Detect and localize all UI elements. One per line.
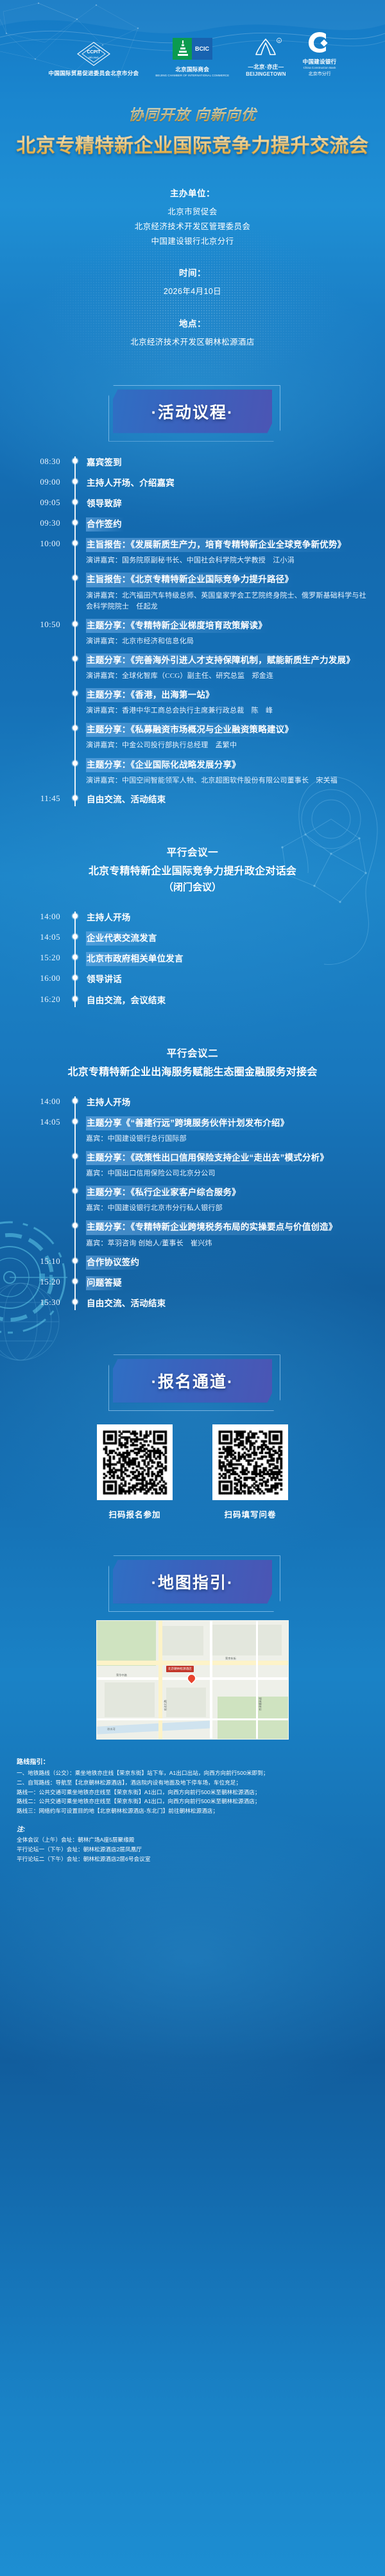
- agenda-row-title: 主题分享：《专精特新企业跨境税务布局的实操要点与价值创造》: [86, 1220, 339, 1234]
- timeline-dot-cell: [64, 723, 86, 730]
- agenda-row-body: 主题分享：《完善海外引进人才支持保障机制，赋能新质生产力发展》演讲嘉宾：全球化智…: [86, 653, 373, 682]
- timeline-dot-icon: [73, 1119, 78, 1124]
- map-road: [210, 1621, 212, 1740]
- agenda-row-body: 主题分享：《私募融资市场概况与企业融资策略建议》演讲嘉宾：中金公司投行部执行总经…: [86, 723, 373, 751]
- map-label-2: 宏达北路: [164, 1700, 167, 1711]
- logo-ccb-sub: 北京市分行: [309, 71, 331, 77]
- timeline-dot-icon: [73, 540, 78, 546]
- session-one-line3: （闭门会议）: [0, 880, 385, 894]
- timeline-dot-icon: [73, 499, 78, 505]
- map-park-area: [97, 1621, 156, 1666]
- agenda-row: 14:05主题分享《“善建行远”跨境服务伙伴计划发布介绍》嘉宾：中国建设银行总行…: [0, 1113, 373, 1148]
- timeline-dot-icon: [73, 520, 78, 525]
- agenda-row-body: 自由交流，会议结束: [86, 994, 373, 1008]
- registration-banner: ·报名通道·: [113, 1359, 272, 1403]
- agenda-row-body: 主持人开场、介绍嘉宾: [86, 476, 373, 490]
- agenda-row-time: 09:30: [0, 517, 64, 530]
- timeline-dot-cell: [64, 972, 86, 980]
- timeline-dot-icon: [73, 1258, 78, 1263]
- svg-text:CCPIT: CCPIT: [87, 50, 101, 55]
- agenda-row: 15:20问题答疑: [0, 1273, 373, 1293]
- agenda-row-body: 领导讲话: [86, 972, 373, 987]
- map-label-3: 京津塘高速: [259, 1697, 262, 1711]
- registration-banner-text: ·报名通道·: [151, 1369, 234, 1392]
- timeline-dot-cell: [64, 793, 86, 800]
- agenda-row-body: 主题分享：《专精特新企业跨境税务布局的实操要点与价值创造》嘉宾：萃羽咨询 创始人…: [86, 1220, 373, 1249]
- timeline-dot-cell: [64, 456, 86, 463]
- qr-caption-survey: 扫码填写问卷: [212, 1508, 288, 1520]
- agenda-row: —主题分享：《私募融资市场概况与企业融资策略建议》演讲嘉宾：中金公司投行部执行总…: [0, 720, 373, 754]
- agenda-row-speaker: 嘉宾：中国建设银行北京市分行私人银行部: [86, 1203, 370, 1214]
- timeline-dot-cell: [64, 931, 86, 939]
- timeline-dot-icon: [73, 1299, 78, 1304]
- timeline-dot-cell: [64, 573, 86, 580]
- map-pin-icon: [187, 1673, 197, 1684]
- agenda-row: —主题分享：《企业国际化战略发展分享》演讲嘉宾：中国空间智能领军人物、北京超图软…: [0, 755, 373, 790]
- timeline-dot-icon: [73, 656, 78, 661]
- timeline-dot-icon: [73, 913, 78, 919]
- agenda-row-title: 主题分享《“善建行远”跨境服务伙伴计划发布介绍》: [86, 1116, 291, 1130]
- agenda-row-body: 主旨报告：《北京专精特新企业国际竞争力提升路径》演讲嘉宾：北汽福田汽车特级总师、…: [86, 573, 373, 612]
- timeline-dot-icon: [73, 975, 78, 980]
- agenda-row: 16:20自由交流，会议结束: [0, 990, 373, 1011]
- agenda-row-body: 主题分享：《香港，出海第一站》演讲嘉宾：香港中华工商总会执行主席兼行政总裁 陈 …: [86, 688, 373, 716]
- timeline-dot-cell: [64, 619, 86, 627]
- logo-ccpit-beijing: CCPIT BEIJING 中国国际贸易促进委员会北京市分会: [49, 40, 139, 77]
- agenda-row-title: 主题分享：《私募融资市场概况与企业融资策略建议》: [86, 723, 295, 737]
- agenda-row-body: 领导致辞: [86, 497, 373, 511]
- agenda-row: —主旨报告：《北京专精特新企业国际竞争力提升路径》演讲嘉宾：北汽福田汽车特级总师…: [0, 569, 373, 615]
- timeline-dot-cell: [64, 653, 86, 661]
- qr-caption-signup: 扫码报名参加: [97, 1508, 173, 1520]
- timeline-dot-cell: [64, 1096, 86, 1103]
- agenda-row: —主题分享：《完善海外引进人才支持保障机制，赋能新质生产力发展》演讲嘉宾：全球化…: [0, 650, 373, 685]
- map-road: [97, 1718, 289, 1720]
- agenda-row-time: 14:05: [0, 1116, 64, 1128]
- timeline-dot-icon: [73, 1279, 78, 1284]
- poster-root: CCPIT BEIJING 中国国际贸易促进委员会北京市分会: [0, 0, 385, 2576]
- timeline-dot-icon: [73, 1154, 78, 1159]
- hero-main-title: 北京专精特新企业国际竞争力提升交流会: [0, 130, 385, 158]
- agenda-row-time: 09:00: [0, 476, 64, 488]
- agenda-row: 10:00主旨报告：《发展新质生产力，培育专精特新企业全球竞争新优势》演讲嘉宾：…: [0, 535, 373, 569]
- agenda-row-time: 16:00: [0, 972, 64, 985]
- agenda-row-title: 领导讲话: [86, 972, 124, 987]
- session-one-heading: 平行会议一 北京专精特新企业国际竞争力提升政企对话会 （闭门会议）: [0, 845, 385, 894]
- agenda-row: —主题分享：《私行企业家客户综合服务》嘉宾：中国建设银行北京市分行私人银行部: [0, 1182, 373, 1217]
- agenda-row-time: 15:20: [0, 1276, 64, 1288]
- logo-ccb-label: 中国建设银行: [303, 58, 337, 65]
- agenda-row-time: 15:10: [0, 1256, 64, 1268]
- agenda-row-time: 15:30: [0, 1297, 64, 1309]
- agenda-row-time: 16:20: [0, 994, 64, 1006]
- timeline-dot-icon: [73, 458, 78, 463]
- logo-ccb-en: China Construction Bank: [304, 66, 336, 69]
- agenda-row-body: 主题分享：《政策性出口信用保险支持企业“走出去”模式分析》嘉宾：中国出口信用保险…: [86, 1151, 373, 1179]
- agenda-row-title: 主持人开场: [86, 911, 133, 925]
- session-one-line1: 平行会议一: [0, 845, 385, 859]
- time-value: 2026年4月10日: [0, 284, 385, 299]
- timeline-dot-cell: [64, 517, 86, 525]
- host-3: 中国建设银行北京分行: [0, 234, 385, 249]
- logo-ccb: 中国建设银行 China Construction Bank 北京市分行: [303, 29, 337, 77]
- agenda-row-title: 北京市政府相关单位发言: [86, 952, 185, 966]
- agenda-row-time: 14:00: [0, 1096, 64, 1108]
- qr-code-signup[interactable]: [97, 1424, 173, 1500]
- map-road-main: [97, 1661, 289, 1665]
- map-label-4: 凉水河: [107, 1727, 116, 1731]
- timeline-dot-icon: [73, 1223, 78, 1228]
- route-line-0: 一、地铁路线（公交）：乘坐地铁亦庄线【荣京东街】站下车，A1出口出站，向西方向前…: [17, 1768, 368, 1778]
- agenda-row-title: 主题分享：《香港，出海第一站》: [86, 688, 216, 702]
- agenda-row-speaker: 演讲嘉宾：北京市经济和信息化局: [86, 636, 370, 647]
- agenda-row-title: 主题分享：《私行企业家客户综合服务》: [86, 1186, 243, 1200]
- qr-item-survey[interactable]: 扫码填写问卷: [212, 1424, 288, 1520]
- logo-bcic-en: BEIJING CHAMBER OF INTERNATIONAL COMMERC…: [155, 74, 229, 77]
- place-label: 地点：: [0, 316, 385, 329]
- host-1: 北京市贸促会: [0, 205, 385, 220]
- registration-banner-wrap: ·报名通道·: [0, 1359, 385, 1403]
- time-block: 时间： 2026年4月10日: [0, 266, 385, 299]
- map-block: [105, 1682, 155, 1717]
- agenda-row-title: 自由交流、活动结束: [86, 793, 167, 807]
- session-two-heading: 平行会议二 北京专精特新企业出海服务赋能生态圈金融服务对接会: [0, 1046, 385, 1078]
- logo-beijing-etown: R —北京·亦庄— BEIJINGETOWN: [246, 34, 286, 77]
- agenda-row-title: 主题分享：《政策性出口信用保险支持企业“走出去”模式分析》: [86, 1151, 330, 1165]
- qr-code-survey[interactable]: [212, 1424, 288, 1500]
- footer-notes: 路线指引： 一、地铁路线（公交）：乘坐地铁亦庄线【荣京东街】站下车，A1出口出站…: [0, 1740, 385, 1863]
- session-two-line1: 平行会议二: [0, 1046, 385, 1060]
- map-road-vertical: [158, 1621, 162, 1740]
- agenda-row-title: 主题分享：《专精特新企业梯度培育政策解读》: [86, 619, 269, 633]
- agenda-row: 09:30合作签约: [0, 514, 373, 535]
- timeline-dot-cell: [64, 538, 86, 546]
- agenda-row-title: 主持人开场: [86, 1096, 133, 1110]
- map-banner-wrap: ·地图指引·: [0, 1560, 385, 1604]
- svg-text:BCIC: BCIC: [195, 46, 209, 52]
- agenda-row-speaker: 演讲嘉宾：国务院原副秘书长、中国社会科学院大学教授 江小涓: [86, 555, 370, 566]
- logo-bcic: BCIC 北京国际商会 BEIJING CHAMBER OF INTERNATI…: [155, 37, 229, 77]
- timeline-dot-icon: [73, 996, 78, 1001]
- agenda-row-time: 14:00: [0, 911, 64, 923]
- route-title: 路线指引：: [17, 1756, 368, 1766]
- session-one-timeline: 14:00主持人开场14:05企业代表交流发言15:20北京市政府相关单位发言1…: [0, 908, 373, 1011]
- agenda-row: 14:00主持人开场: [0, 908, 373, 928]
- agenda-banner-text: ·活动议程·: [151, 400, 234, 423]
- ccb-icon: [305, 29, 334, 56]
- note-line-2: 平行论坛二（下午）会址：朝林松源酒店2层6号会议室: [17, 1854, 368, 1864]
- agenda-row: 14:05企业代表交流发言: [0, 928, 373, 949]
- agenda-row-time: 10:50: [0, 619, 64, 631]
- route-line-3: 路线二：公共交通可乘坐地铁亦庄线至【荣京东街】A1出口，向西方向前行500米至朝…: [17, 1797, 368, 1806]
- agenda-banner: ·活动议程·: [113, 390, 272, 433]
- host-label: 主办单位：: [0, 186, 385, 199]
- session-two-timeline: 14:00主持人开场14:05主题分享《“善建行远”跨境服务伙伴计划发布介绍》嘉…: [0, 1093, 373, 1314]
- agenda-row: 10:50主题分享：《专精特新企业梯度培育政策解读》演讲嘉宾：北京市经济和信息化…: [0, 616, 373, 650]
- ccpit-icon: CCPIT BEIJING: [75, 40, 112, 67]
- agenda-row-body: 主旨报告：《发展新质生产力，培育专精特新企业全球竞争新优势》演讲嘉宾：国务院原副…: [86, 538, 373, 566]
- agenda-row-title: 企业代表交流发言: [86, 931, 159, 946]
- timeline-dot-icon: [73, 955, 78, 960]
- agenda-row-speaker: 演讲嘉宾：中国空间智能领军人物、北京超图软件股份有限公司董事长 宋关福: [86, 775, 370, 786]
- agenda-row: 15:20北京市政府相关单位发言: [0, 949, 373, 969]
- map-block: [211, 1625, 282, 1655]
- qr-code-row: 扫码报名参加 扫码填写问卷: [0, 1424, 385, 1520]
- timeline-dot-cell: [64, 994, 86, 1001]
- agenda-row-title: 自由交流、活动结束: [86, 1297, 167, 1311]
- agenda-row-title: 自由交流，会议结束: [86, 994, 167, 1008]
- event-info-block: 主办单位： 北京市贸促会 北京经济技术开发区管理委员会 中国建设银行北京分行 时…: [0, 186, 385, 350]
- agenda-row: 15:10合作协议签约: [0, 1252, 373, 1273]
- agenda-row-body: 自由交流、活动结束: [86, 1297, 373, 1311]
- agenda-banner-wrap: ·活动议程·: [0, 390, 385, 433]
- route-line-1: 二、自驾路线：导航至【北京朝林松源酒店】，酒店院内设有地面及地下停车场，车位充足…: [17, 1778, 368, 1788]
- logo-ccpit-label: 中国国际贸易促进委员会北京市分会: [49, 69, 139, 77]
- agenda-row-speaker: 演讲嘉宾：香港中华工商总会执行主席兼行政总裁 陈 峰: [86, 705, 370, 716]
- timeline-dot-cell: [64, 497, 86, 505]
- timeline-dot-icon: [73, 761, 78, 766]
- map-label-0: 荣京东街: [225, 1657, 236, 1661]
- note-line-1: 平行论坛一（下午）会址：朝林松源酒店2层凤凰厅: [17, 1845, 368, 1854]
- timeline-dot-icon: [73, 691, 78, 696]
- agenda-row-body: 主题分享：《企业国际化战略发展分享》演讲嘉宾：中国空间智能领军人物、北京超图软件…: [86, 758, 373, 786]
- agenda-row-body: 主持人开场: [86, 1096, 373, 1110]
- agenda-row: 09:05领导致辞: [0, 494, 373, 514]
- agenda-row: —主题分享：《香港，出海第一站》演讲嘉宾：香港中华工商总会执行主席兼行政总裁 陈…: [0, 685, 373, 720]
- timeline-dot-cell: [64, 911, 86, 919]
- map-wrap: 荣京东街 荣华中路 宏达北路 京津塘高速 凉水河 北京朝林松源酒店: [0, 1620, 385, 1740]
- route-line-2: 路线一：公共交通可乘坐地铁亦庄线至【荣京东街】A1出口，向西方向前行500米至朝…: [17, 1788, 368, 1797]
- timeline-dot-cell: [64, 688, 86, 696]
- timeline-dot-cell: [64, 1256, 86, 1263]
- timeline-dot-icon: [73, 479, 78, 484]
- note-line-0: 全体会议（上午）会址：朝林广场A座5层聚缘殿: [17, 1835, 368, 1845]
- session-two-section: 14:00主持人开场14:05主题分享《“善建行远”跨境服务伙伴计划发布介绍》嘉…: [0, 1093, 385, 1314]
- agenda-section: 08:30嘉宾签到09:00主持人开场、介绍嘉宾09:05领导致辞09:30合作…: [0, 453, 385, 810]
- map-banner: ·地图指引·: [113, 1560, 272, 1604]
- timeline-dot-icon: [73, 1098, 78, 1103]
- agenda-row-time: 09:05: [0, 497, 64, 509]
- place-value: 北京经济技术开发区朝林松源酒店: [0, 335, 385, 350]
- agenda-row-body: 主持人开场: [86, 911, 373, 925]
- agenda-timeline: 08:30嘉宾签到09:00主持人开场、介绍嘉宾09:05领导致辞09:30合作…: [0, 453, 373, 810]
- timeline-dot-cell: [64, 1276, 86, 1284]
- session-two-line2: 北京专精特新企业出海服务赋能生态圈金融服务对接会: [0, 1063, 385, 1078]
- agenda-row-time: 15:20: [0, 952, 64, 964]
- venue-map[interactable]: 荣京东街 荣华中路 宏达北路 京津塘高速 凉水河 北京朝林松源酒店: [96, 1620, 289, 1740]
- hero-subtitle: 协同开放 向新向优: [0, 103, 385, 125]
- host-2: 北京经济技术开发区管理委员会: [0, 220, 385, 234]
- place-block: 地点： 北京经济技术开发区朝林松源酒店: [0, 316, 385, 350]
- agenda-row-title: 合作协议签约: [86, 1256, 141, 1270]
- agenda-row-title: 合作签约: [86, 517, 124, 532]
- timeline-dot-cell: [64, 1186, 86, 1193]
- agenda-row-speaker: 演讲嘉宾：北汽福田汽车特级总师、英国皇家学会工艺院终身院士、俄罗斯基础科学与社会…: [86, 591, 370, 612]
- sponsor-logo-row: CCPIT BEIJING 中国国际贸易促进委员会北京市分会: [0, 0, 385, 77]
- timeline-dot-cell: [64, 1220, 86, 1228]
- agenda-row-time: 11:45: [0, 793, 64, 805]
- agenda-row: 15:30自由交流、活动结束: [0, 1293, 373, 1314]
- host-block: 主办单位： 北京市贸促会 北京经济技术开发区管理委员会 中国建设银行北京分行: [0, 186, 385, 249]
- timeline-dot-cell: [64, 1116, 86, 1124]
- timeline-dot-icon: [73, 934, 78, 939]
- svg-text:BEIJING: BEIJING: [89, 56, 99, 59]
- agenda-row-body: 自由交流、活动结束: [86, 793, 373, 807]
- agenda-row-title: 主题分享：《企业国际化战略发展分享》: [86, 758, 243, 772]
- hero-title-block: 协同开放 向新向优 北京专精特新企业国际竞争力提升交流会: [0, 103, 385, 158]
- timeline-dot-icon: [73, 795, 78, 800]
- agenda-row-body: 主题分享《“善建行远”跨境服务伙伴计划发布介绍》嘉宾：中国建设银行总行国际部: [86, 1116, 373, 1145]
- agenda-row-title: 主题分享：《完善海外引进人才支持保障机制，赋能新质生产力发展》: [86, 653, 357, 668]
- timeline-dot-cell: [64, 758, 86, 766]
- agenda-row-speaker: 嘉宾：萃羽咨询 创始人/董事长 崔兴炜: [86, 1238, 370, 1249]
- agenda-row-body: 企业代表交流发言: [86, 931, 373, 946]
- agenda-row-time: 14:05: [0, 931, 64, 944]
- timeline-dot-cell: [64, 1151, 86, 1159]
- agenda-row-time: 08:30: [0, 456, 64, 468]
- logo-bcic-label: 北京国际商会: [175, 65, 209, 73]
- agenda-row-title: 问题答疑: [86, 1276, 124, 1290]
- timeline-dot-icon: [73, 621, 78, 627]
- timeline-dot-icon: [73, 575, 78, 580]
- agenda-row: 11:45自由交流、活动结束: [0, 790, 373, 810]
- map-banner-text: ·地图指引·: [151, 1570, 234, 1593]
- agenda-row-body: 主题分享：《私行企业家客户综合服务》嘉宾：中国建设银行北京市分行私人银行部: [86, 1186, 373, 1214]
- map-block: [166, 1688, 206, 1717]
- agenda-row: 14:00主持人开场: [0, 1093, 373, 1113]
- agenda-row: 09:00主持人开场、介绍嘉宾: [0, 473, 373, 494]
- agenda-row-body: 合作签约: [86, 517, 373, 532]
- map-venue-callout: 北京朝林松源酒店: [166, 1666, 194, 1672]
- agenda-row-title: 领导致辞: [86, 497, 124, 511]
- agenda-row-title: 嘉宾签到: [86, 456, 124, 470]
- agenda-row: —主题分享：《政策性出口信用保险支持企业“走出去”模式分析》嘉宾：中国出口信用保…: [0, 1148, 373, 1182]
- route-line-4: 路线三：网络约车可设置目的地【北京朝林松源酒店-东北门】前往朝林松源酒店；: [17, 1806, 368, 1816]
- map-block: [158, 1626, 203, 1655]
- session-one-section: 14:00主持人开场14:05企业代表交流发言15:20北京市政府相关单位发言1…: [0, 908, 385, 1011]
- agenda-row-speaker: 嘉宾：中国出口信用保险公司北京分公司: [86, 1168, 370, 1179]
- map-label-1: 荣华中路: [116, 1673, 127, 1677]
- note-title: 注:: [17, 1824, 368, 1833]
- timeline-dot-cell: [64, 476, 86, 484]
- etown-icon: R: [246, 34, 286, 61]
- timeline-dot-cell: [64, 1297, 86, 1304]
- agenda-row-speaker: 嘉宾：中国建设银行总行国际部: [86, 1134, 370, 1145]
- agenda-row: 16:00领导讲话: [0, 969, 373, 990]
- logo-etown-en: BEIJINGETOWN: [246, 71, 286, 77]
- agenda-row-speaker: 演讲嘉宾：中金公司投行部执行总经理 孟繁中: [86, 740, 370, 751]
- agenda-row-title: 主旨报告：《北京专精特新企业国际竞争力提升路径》: [86, 573, 295, 587]
- agenda-row: —主题分享：《专精特新企业跨境税务布局的实操要点与价值创造》嘉宾：萃羽咨询 创始…: [0, 1217, 373, 1252]
- agenda-row-body: 北京市政府相关单位发言: [86, 952, 373, 966]
- agenda-row-body: 问题答疑: [86, 1276, 373, 1290]
- agenda-row-body: 嘉宾签到: [86, 456, 373, 470]
- agenda-row: 08:30嘉宾签到: [0, 453, 373, 473]
- agenda-row-speaker: 演讲嘉宾：全球化智库（CCG）副主任、研究总监 郑金连: [86, 671, 370, 682]
- agenda-row-title: 主旨报告：《发展新质生产力，培育专精特新企业全球竞争新优势》: [86, 538, 348, 552]
- svg-text:R: R: [278, 39, 280, 42]
- map-road: [256, 1621, 258, 1740]
- timeline-dot-icon: [73, 725, 78, 730]
- logo-etown-label: —北京·亦庄—: [248, 63, 284, 71]
- qr-item-signup[interactable]: 扫码报名参加: [97, 1424, 173, 1520]
- spacer: [17, 1816, 368, 1824]
- session-one-line2: 北京专精特新企业国际竞争力提升政企对话会: [0, 862, 385, 877]
- agenda-row-body: 主题分享：《专精特新企业梯度培育政策解读》演讲嘉宾：北京市经济和信息化局: [86, 619, 373, 647]
- bcic-icon: BCIC: [173, 37, 212, 64]
- timeline-dot-icon: [73, 1188, 78, 1193]
- timeline-dot-cell: [64, 952, 86, 960]
- agenda-row-time: 10:00: [0, 538, 64, 550]
- time-label: 时间：: [0, 266, 385, 279]
- agenda-row-title: 主持人开场、介绍嘉宾: [86, 476, 176, 490]
- agenda-row-body: 合作协议签约: [86, 1256, 373, 1270]
